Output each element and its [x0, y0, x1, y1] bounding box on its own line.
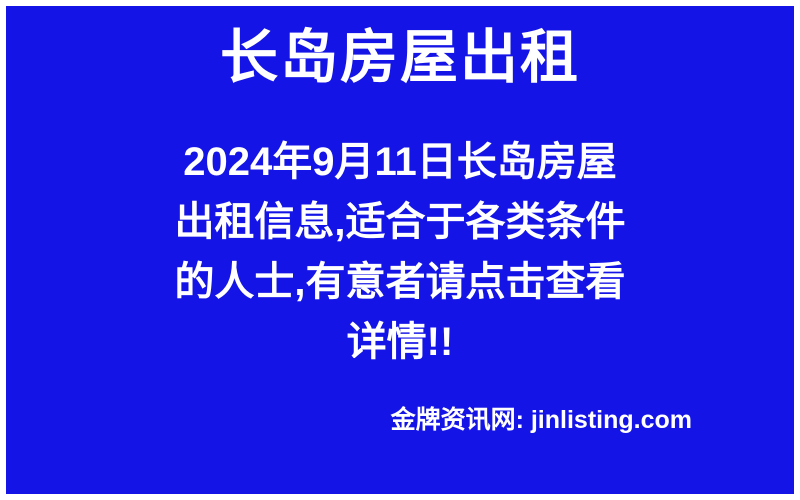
- body-line-2: 出租信息,适合于各类条件: [100, 192, 700, 252]
- poster-title: 长岛房屋出租: [0, 26, 800, 90]
- border-top: [0, 0, 800, 6]
- poster-body: 2024年9月11日长岛房屋 出租信息,适合于各类条件 的人士,有意者请点击查看…: [100, 132, 700, 372]
- body-line-1: 2024年9月11日长岛房屋: [100, 132, 700, 192]
- poster-footer-site: 金牌资讯网: jinlisting.com: [391, 400, 692, 436]
- poster-banner: 长岛房屋出租 2024年9月11日长岛房屋 出租信息,适合于各类条件 的人士,有…: [0, 0, 800, 500]
- border-bottom: [0, 494, 800, 500]
- body-line-4: 详情!!: [100, 312, 700, 372]
- body-line-3: 的人士,有意者请点击查看: [100, 252, 700, 312]
